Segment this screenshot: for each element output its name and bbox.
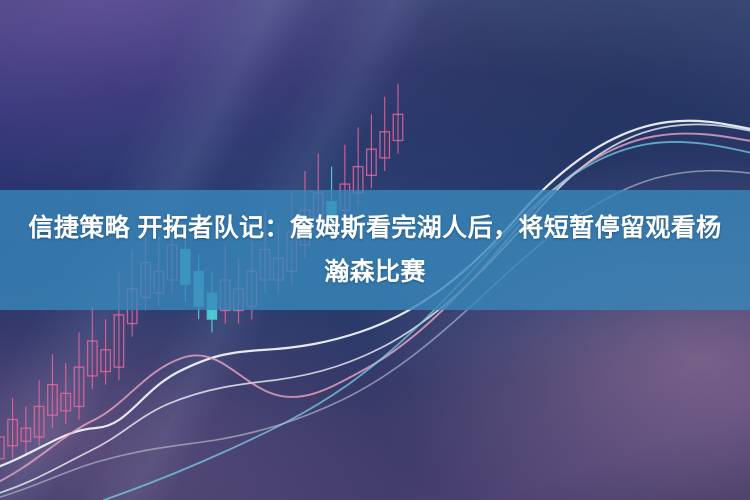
candle-body: [74, 367, 84, 406]
candle-body: [8, 420, 18, 446]
candle-body: [353, 167, 363, 193]
candle-body: [34, 406, 44, 437]
candle-body: [48, 385, 58, 416]
moving-average-lines: [0, 121, 750, 500]
candle-body: [393, 114, 403, 140]
banner-image: 信捷策略 开拓者队记：詹姆斯看完湖人后，将短暂停留观看杨 瀚森比赛: [0, 0, 750, 500]
title-line-2: 瀚森比赛: [324, 250, 426, 294]
candle-body: [0, 437, 4, 459]
title-overlay-band: 信捷策略 开拓者队记：詹姆斯看完湖人后，将短暂停留观看杨 瀚森比赛: [0, 190, 750, 310]
candle-body: [101, 350, 111, 372]
moving-average-line: [0, 124, 750, 496]
title-line-1: 信捷策略 开拓者队记：詹姆斯看完湖人后，将短暂停留观看杨: [28, 206, 721, 250]
candle-body: [61, 393, 71, 410]
candle-body: [21, 428, 31, 441]
candle-body: [88, 341, 98, 376]
candle-body: [367, 149, 377, 175]
candle-body: [380, 132, 390, 158]
candle-body: [114, 315, 124, 367]
